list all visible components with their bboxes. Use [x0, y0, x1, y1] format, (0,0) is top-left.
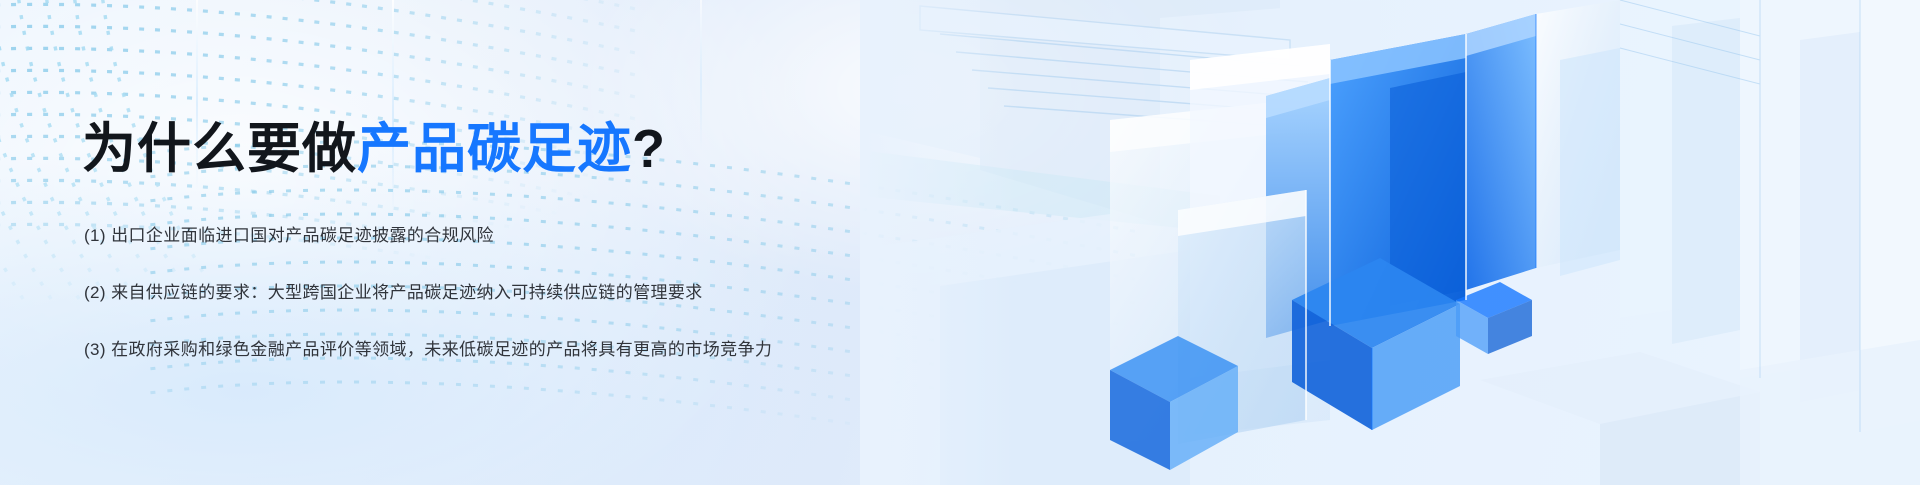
banner-content: 为什么要做产品碳足迹? (1) 出口企业面临进口国对产品碳足迹披露的合规风险 (…	[82, 0, 1082, 485]
bullet-item-2: (2) 来自供应链的要求：大型跨国企业将产品碳足迹纳入可持续供应链的管理要求	[84, 279, 772, 306]
hero-banner: 为什么要做产品碳足迹? (1) 出口企业面临进口国对产品碳足迹披露的合规风险 (…	[0, 0, 1920, 485]
bullet-item-1: (1) 出口企业面临进口国对产品碳足迹披露的合规风险	[84, 222, 772, 249]
title-highlight: 产品碳足迹	[357, 119, 632, 179]
page-title: 为什么要做产品碳足迹?	[82, 120, 666, 179]
title-prefix: 为什么要做	[82, 119, 357, 179]
bullet-list: (1) 出口企业面临进口国对产品碳足迹披露的合规风险 (2) 来自供应链的要求：…	[84, 205, 772, 364]
title-suffix: ?	[632, 119, 666, 179]
bullet-item-3: (3) 在政府采购和绿色金融产品评价等领域，未来低碳足迹的产品将具有更高的市场竞…	[84, 336, 772, 363]
